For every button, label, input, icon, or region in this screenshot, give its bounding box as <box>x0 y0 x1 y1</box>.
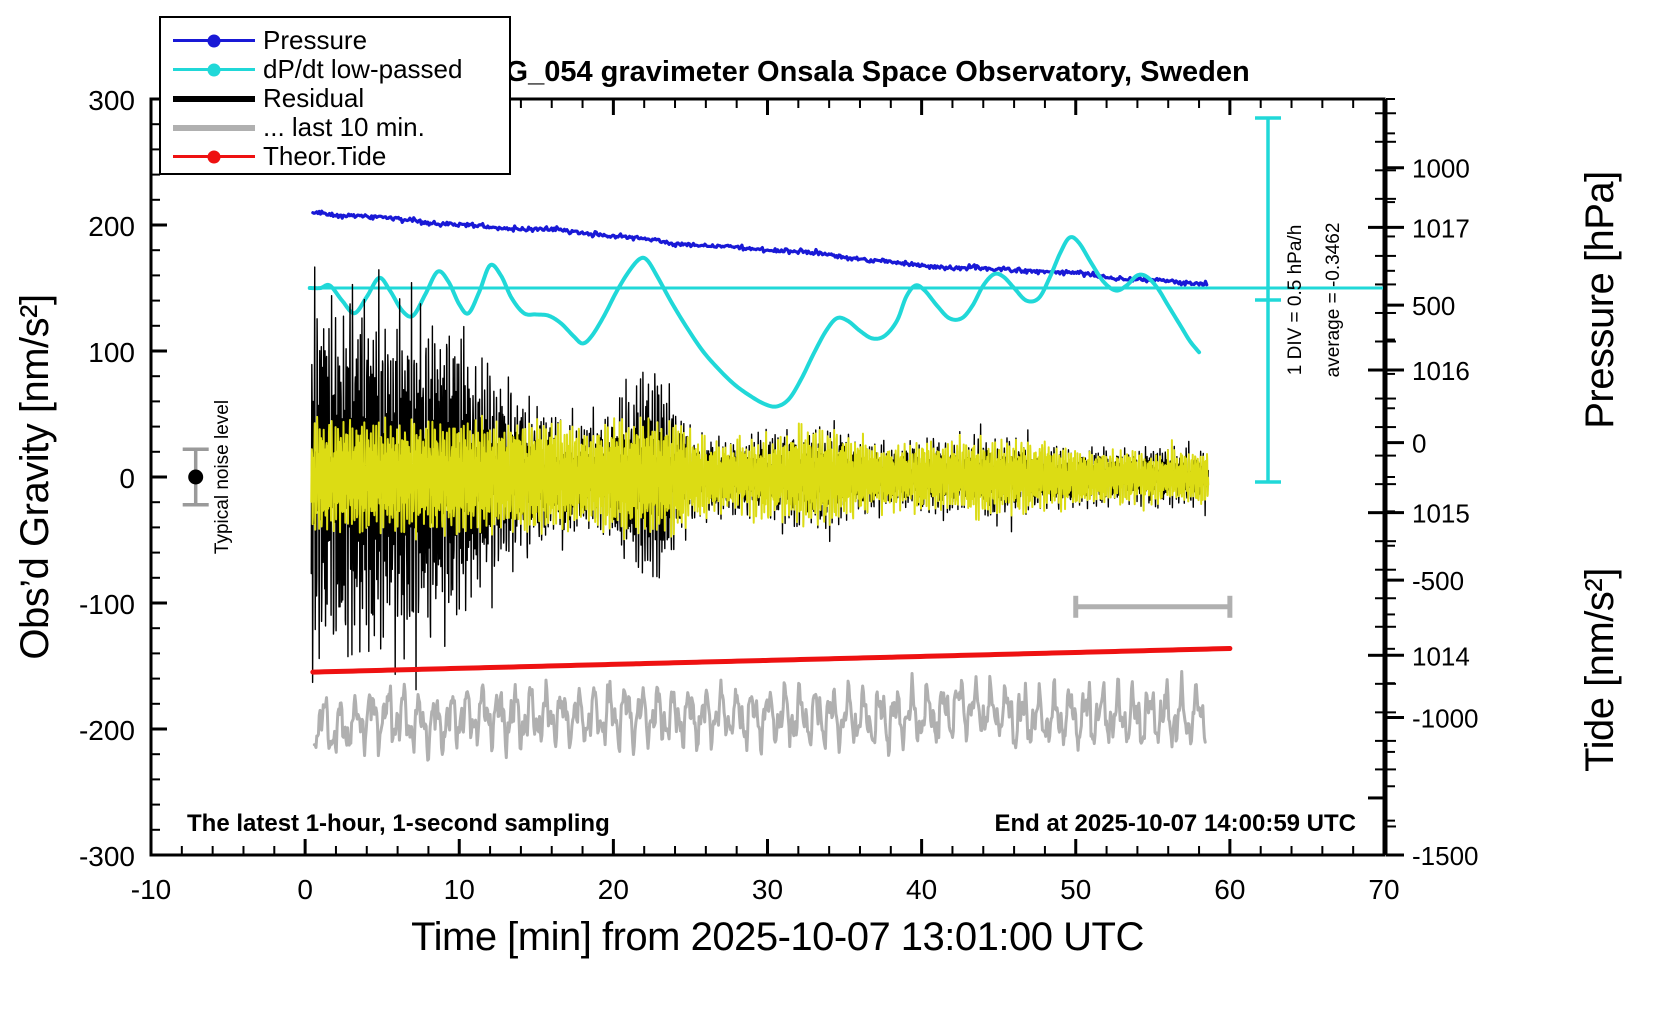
legend-swatch-icon <box>173 88 255 110</box>
typical-noise-level-marker: Typical noise level <box>183 400 233 554</box>
legend-swatch-icon <box>173 59 255 81</box>
footer-right-note: End at 2025-10-07 14:00:59 UTC <box>995 810 1357 837</box>
x-tick-label: 70 <box>1368 874 1399 905</box>
pressure-axis-title: Pressure [hPa] <box>1578 171 1622 429</box>
y-tick-label: -100 <box>79 589 135 620</box>
x-tick-label: 60 <box>1214 874 1245 905</box>
y-tick-label: -200 <box>79 715 135 746</box>
tide-tick-label: -500 <box>1412 566 1464 596</box>
y-tick-label: 200 <box>88 211 135 242</box>
pressure-series <box>313 211 1207 285</box>
legend-item-residual[interactable]: Residual <box>173 84 509 113</box>
y-tick-label: -300 <box>79 841 135 872</box>
last-10-min-series <box>314 672 1205 761</box>
tide-tick-label: -1500 <box>1412 841 1479 871</box>
x-tick-label: 10 <box>444 874 475 905</box>
div-scale-label: 1 DIV = 0.5 hPa/h <box>1285 225 1306 376</box>
theoretical-tide-series <box>313 648 1230 672</box>
x-tick-label: -10 <box>131 874 171 905</box>
tide-tick-label: -1000 <box>1412 704 1479 734</box>
tide-tick-label: 0 <box>1412 429 1426 459</box>
legend-item-label: Pressure <box>263 25 367 56</box>
chart-page: -10010203040506070-300-200-1000100200300… <box>0 0 1660 1020</box>
legend-item-label: dP/dt low-passed <box>263 54 462 85</box>
legend-item-label: Residual <box>263 83 364 114</box>
y-tick-label: 0 <box>119 463 135 494</box>
typical-noise-level-label: Typical noise level <box>212 400 233 554</box>
legend-swatch-icon <box>173 30 255 52</box>
series-layer <box>308 211 1383 760</box>
pressure-tick-label: 1017 <box>1412 213 1470 243</box>
y-axis-left-title: Obs’d Gravity [nm/s²] <box>13 294 57 659</box>
tide-tick-label: 1000 <box>1412 154 1470 184</box>
legend-item-theor-tide[interactable]: Theor.Tide <box>173 142 509 171</box>
average-label: average = -0.3462 <box>1323 223 1344 378</box>
pressure-tick-label: 1016 <box>1412 356 1470 386</box>
dpdt-scale-bar: 1 DIV = 0.5 hPa/haverage = -0.3462 <box>1255 118 1344 482</box>
pressure-tick-label: 1014 <box>1412 641 1470 671</box>
x-axis-title: Time [min] from 2025-10-07 13:01:00 UTC <box>411 915 1144 959</box>
x-tick-label: 20 <box>598 874 629 905</box>
legend-item-pressure[interactable]: Pressure <box>173 26 509 55</box>
legend-item-label: ... last 10 min. <box>263 112 425 143</box>
y-tick-label: 100 <box>88 337 135 368</box>
x-tick-label: 40 <box>906 874 937 905</box>
y-axis-left: -300-200-1000100200300 <box>79 85 167 872</box>
legend-item-dp-dt-low-passed[interactable]: dP/dt low-passed <box>173 55 509 84</box>
y-tick-label: 300 <box>88 85 135 116</box>
svg-text:Obs’d Gravity [nm/s²]: Obs’d Gravity [nm/s²] <box>13 294 57 659</box>
pressure-tick-label: 1015 <box>1412 499 1470 529</box>
legend-item-label: Theor.Tide <box>263 141 386 172</box>
tide-tick-label: 500 <box>1412 291 1455 321</box>
footer-left-note: The latest 1-hour, 1-second sampling <box>187 810 610 837</box>
x-tick-label: 0 <box>297 874 313 905</box>
tide-axis-title: Tide [nm/s²] <box>1578 568 1622 772</box>
legend: PressuredP/dt low-passedResidual... last… <box>159 16 511 175</box>
x-tick-label: 30 <box>752 874 783 905</box>
legend-swatch-icon <box>173 146 255 168</box>
legend-item-last-10-min[interactable]: ... last 10 min. <box>173 113 509 142</box>
legend-swatch-icon <box>173 117 255 139</box>
x-tick-label: 50 <box>1060 874 1091 905</box>
chart-title: SCG_054 gravimeter Onsala Space Observat… <box>465 56 1249 88</box>
last-10-min-span-bar <box>1076 596 1230 618</box>
